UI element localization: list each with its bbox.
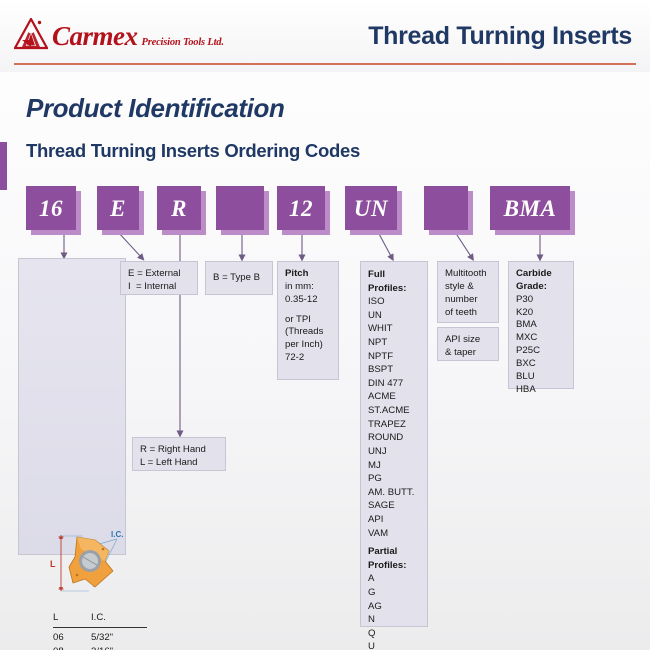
partial-profiles-title-line1: Partial <box>368 545 420 559</box>
list-item: Q <box>368 627 420 641</box>
code-box-profile-label: UN <box>354 197 388 220</box>
full-profiles-title-line2: Profiles: <box>368 282 420 296</box>
code-box-multitooth[interactable] <box>424 186 468 230</box>
pitch-range-mm: 0.35-12 <box>285 294 331 307</box>
code-box-hand-type[interactable]: E <box>97 186 139 230</box>
code-box-grade-label: BMA <box>504 197 557 220</box>
partial-profiles-title-line2: Profiles: <box>368 559 420 573</box>
multitooth-panel: Multitooth style & number of teeth <box>437 261 499 323</box>
logo-tagline: Precision Tools Ltd. <box>142 38 224 51</box>
list-item: DIN 477 <box>368 377 420 391</box>
code-box-pitch[interactable]: 12 <box>277 186 325 230</box>
code-box-size[interactable]: 16 <box>26 186 76 230</box>
carbide-grade-panel: Carbide Grade: P30 K20 BMA MXC P25C BXC … <box>508 261 574 389</box>
code-box-pitch-label: 12 <box>289 197 313 220</box>
svg-text:I.C.: I.C. <box>111 530 123 539</box>
code-box-size-label: 16 <box>39 197 63 220</box>
list-item: BXC <box>516 358 566 371</box>
list-item: WHIT <box>368 322 420 336</box>
list-item: AM. BUTT. <box>368 486 420 500</box>
type-b-label: B = Type B <box>213 272 260 285</box>
page-header: Carmex Precision Tools Ltd. Thread Turni… <box>0 0 650 72</box>
code-box-direction-label: R <box>171 197 187 220</box>
list-item: UNJ <box>368 445 420 459</box>
list-item: NPT <box>368 336 420 350</box>
svg-text:L: L <box>50 559 56 569</box>
api-size-panel: API size & taper <box>437 327 499 361</box>
hand-type-external: E = External <box>128 268 190 281</box>
pitch-panel: Pitch in mm: 0.35-12 or TPI (Threads per… <box>277 261 339 380</box>
pitch-range-tpi: 72-2 <box>285 352 331 365</box>
full-profiles-title-line1: Full <box>368 268 420 282</box>
list-item: API <box>368 513 420 527</box>
code-box-hand-type-label: E <box>110 197 126 220</box>
code-box-profile[interactable]: UN <box>345 186 397 230</box>
code-box-grade[interactable]: BMA <box>490 186 570 230</box>
pitch-or-tpi: or TPI <box>285 314 331 327</box>
page-title: Thread Turning Inserts <box>368 22 632 51</box>
hand-type-panel: E = External I = Internal <box>120 261 198 295</box>
carmex-triangle-logo-icon <box>14 18 48 50</box>
list-item: BMA <box>516 319 566 332</box>
direction-left-hand: L = Left Hand <box>140 457 218 470</box>
code-box-direction[interactable]: R <box>157 186 201 230</box>
pitch-title: Pitch <box>285 268 331 281</box>
api-size-line2: & taper <box>445 347 491 360</box>
list-item: ST.ACME <box>368 404 420 418</box>
carbide-grade-title-line2: Grade: <box>516 281 566 294</box>
list-item: TRAPEZ <box>368 418 420 432</box>
size-table-header-l: L <box>53 611 91 628</box>
list-item: ISO <box>368 295 420 309</box>
document-page: Carmex Precision Tools Ltd. Thread Turni… <box>0 0 650 650</box>
multitooth-line2: style & <box>445 281 491 294</box>
list-item: NPTF <box>368 350 420 364</box>
list-item: P25C <box>516 345 566 358</box>
list-item: HBA <box>516 384 566 397</box>
list-item: K20 <box>516 307 566 320</box>
list-item: N <box>368 613 420 627</box>
size-table-header-row: L I.C. <box>53 611 147 628</box>
multitooth-line3: number <box>445 294 491 307</box>
list-item: A <box>368 572 420 586</box>
api-size-line1: API size <box>445 334 491 347</box>
size-cell-ic: 5/32" <box>91 631 147 646</box>
list-item: AG <box>368 600 420 614</box>
list-item: VAM <box>368 527 420 541</box>
pitch-tpi-desc2: per Inch) <box>285 339 331 352</box>
purple-accent-bar <box>0 142 7 190</box>
list-item: MXC <box>516 332 566 345</box>
hand-type-internal: I = Internal <box>128 281 190 294</box>
direction-panel: R = Right Hand L = Left Hand <box>132 437 226 471</box>
insert-size-panel: L I.C. L I.C. 065/32" 083/16" 08U3/16"U … <box>18 258 126 555</box>
carbide-grade-title-line1: Carbide <box>516 268 566 281</box>
size-cell-l: 08 <box>53 645 91 650</box>
multitooth-line4: of teeth <box>445 307 491 320</box>
pitch-tpi-desc1: (Threads <box>285 326 331 339</box>
size-cell-ic: 3/16" <box>91 645 147 650</box>
list-item: G <box>368 586 420 600</box>
multitooth-line1: Multitooth <box>445 268 491 281</box>
list-item: P30 <box>516 294 566 307</box>
profiles-panel: Full Profiles: ISO UN WHIT NPT NPTF BSPT… <box>360 261 428 627</box>
table-row: 083/16" <box>53 645 147 650</box>
pitch-unit-mm: in mm: <box>285 281 331 294</box>
subsection-title: Thread Turning Inserts Ordering Codes <box>26 140 360 162</box>
list-item: ACME <box>368 390 420 404</box>
list-item: PG <box>368 472 420 486</box>
list-item: SAGE <box>368 499 420 513</box>
insert-drawing-icon: L I.C. <box>47 527 131 601</box>
list-item: U <box>368 640 420 650</box>
table-row: 065/32" <box>53 631 147 646</box>
list-item: UN <box>368 309 420 323</box>
logo-wordmark: Carmex <box>52 23 138 50</box>
list-item: BSPT <box>368 363 420 377</box>
size-table: L I.C. 065/32" 083/16" 08U3/16"U 111/4" … <box>53 611 147 650</box>
header-divider <box>14 63 636 65</box>
size-table-header-ic: I.C. <box>91 611 147 628</box>
direction-right-hand: R = Right Hand <box>140 444 218 457</box>
list-item: ROUND <box>368 431 420 445</box>
size-cell-l: 06 <box>53 631 91 646</box>
type-panel: B = Type B <box>205 261 273 295</box>
carmex-logo: Carmex Precision Tools Ltd. <box>14 18 224 50</box>
section-title: Product Identification <box>26 93 284 124</box>
list-item: BLU <box>516 371 566 384</box>
code-box-type[interactable] <box>216 186 264 230</box>
list-item: MJ <box>368 459 420 473</box>
